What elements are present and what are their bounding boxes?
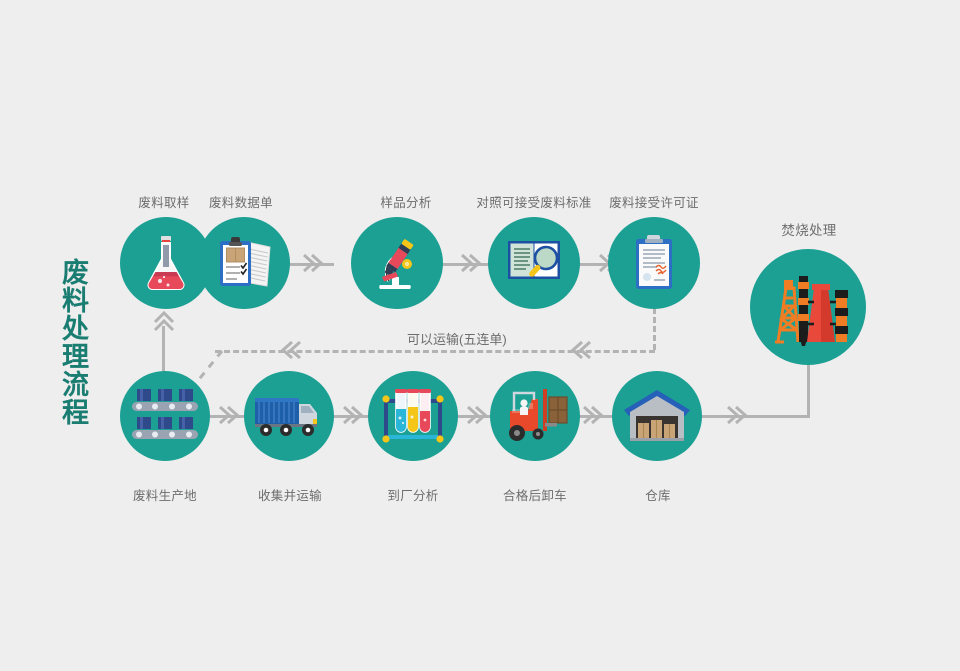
node-incineration[interactable] — [750, 249, 866, 365]
label-sample-analysis: 样品分析 — [366, 192, 446, 211]
chevron-right-icon — [464, 404, 490, 426]
microscope-icon — [367, 233, 427, 293]
chevron-left-icon — [568, 339, 594, 361]
node-warehouse[interactable] — [612, 371, 702, 461]
label-unload-if-qualified: 合格后卸车 — [495, 485, 575, 504]
label-waste-data-sheet: 废料数据单 — [196, 192, 286, 211]
factory-incinerator-icon — [762, 268, 854, 346]
node-collect-transport[interactable] — [244, 371, 334, 461]
return-note-label: 可以运输(五连单) — [401, 329, 513, 348]
chevron-up-icon — [151, 308, 177, 334]
node-compare-standard[interactable] — [488, 217, 580, 309]
chevron-right-icon — [458, 252, 484, 274]
label-waste-origin: 废料生产地 — [124, 485, 206, 504]
chevron-right-icon — [340, 404, 366, 426]
label-incineration: 焚烧处理 — [775, 219, 843, 239]
label-acceptance-permit: 废料接受许可证 — [608, 192, 700, 211]
node-waste-data-sheet[interactable] — [198, 217, 290, 309]
test-tubes-icon — [380, 385, 446, 447]
label-waste-sampling: 废料取样 — [124, 192, 204, 211]
conveyor-boxes-icon — [129, 387, 201, 445]
connector-warehouse-to-incinerator — [690, 415, 810, 418]
page-title: 废料处理流程 — [44, 258, 88, 426]
label-collect-transport: 收集并运输 — [252, 485, 328, 504]
label-compare-standard: 对照可接受废料标准 — [468, 192, 600, 211]
chevron-right-icon — [724, 404, 750, 426]
truck-icon — [253, 392, 325, 440]
warehouse-icon — [622, 388, 692, 444]
flowchart-canvas: 废料处理流程 可以运输(五连单) — [0, 0, 960, 671]
chevron-right-icon — [216, 404, 242, 426]
clipboard-checklist-icon — [213, 233, 275, 293]
node-unload-if-qualified[interactable] — [490, 371, 580, 461]
label-plant-analysis: 到厂分析 — [380, 485, 446, 504]
chevron-right-icon — [580, 404, 606, 426]
forklift-icon — [500, 387, 570, 445]
chevron-left-icon — [278, 339, 304, 361]
node-sample-analysis[interactable] — [351, 217, 443, 309]
node-waste-origin[interactable] — [120, 371, 210, 461]
flask-icon — [138, 233, 194, 293]
node-plant-analysis[interactable] — [368, 371, 458, 461]
node-acceptance-permit[interactable] — [608, 217, 700, 309]
label-warehouse: 仓库 — [638, 485, 678, 504]
permit-document-icon — [631, 233, 677, 293]
chevron-right-icon — [300, 252, 326, 274]
book-magnifier-icon — [504, 235, 564, 291]
dashed-connector-permit-down — [653, 308, 656, 350]
